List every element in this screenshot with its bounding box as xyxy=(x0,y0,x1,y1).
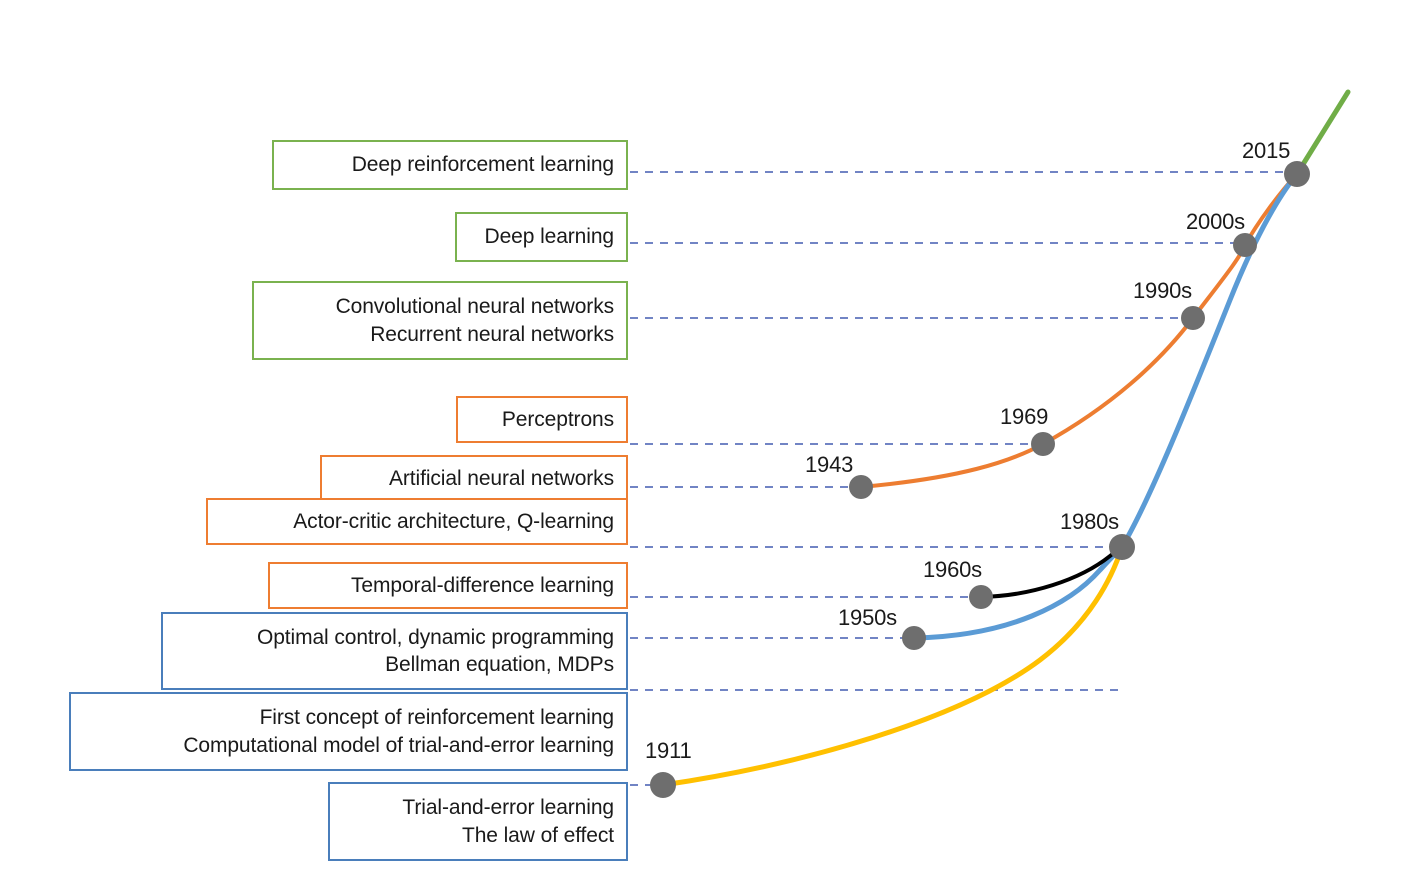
label-box-optimal-control-bellman[interactable]: Optimal control, dynamic programmingBell… xyxy=(161,612,628,690)
milestone-1943[interactable] xyxy=(849,475,873,499)
label-box-line: Convolutional neural networks xyxy=(336,293,614,320)
label-box-actor-critic-q-learning[interactable]: Actor-critic architecture, Q-learning xyxy=(206,498,628,545)
label-box-convolutional-recurrent-neural-networks[interactable]: Convolutional neural networksRecurrent n… xyxy=(252,281,628,360)
label-box-trial-and-error-law-of-effect[interactable]: Trial-and-error learningThe law of effec… xyxy=(328,782,628,861)
milestone-1990s[interactable] xyxy=(1181,306,1205,330)
milestone-1911[interactable] xyxy=(650,772,676,798)
milestone-1950s[interactable] xyxy=(902,626,926,650)
milestone-1969[interactable] xyxy=(1031,432,1055,456)
label-box-line: Deep learning xyxy=(485,223,614,250)
milestone-1960s[interactable] xyxy=(969,585,993,609)
label-box-deep-reinforcement-learning[interactable]: Deep reinforcement learning xyxy=(272,140,628,190)
milestone-1980s[interactable] xyxy=(1109,534,1135,560)
label-box-line: The law of effect xyxy=(462,822,614,849)
year-1990s: 1990s xyxy=(1133,278,1192,304)
year-2015: 2015 xyxy=(1242,138,1290,164)
label-box-line: Bellman equation, MDPs xyxy=(385,651,614,678)
timeline-diagram: Deep reinforcement learningDeep learning… xyxy=(0,0,1414,894)
label-box-perceptrons[interactable]: Perceptrons xyxy=(456,396,628,443)
curve-trial-and-error xyxy=(663,547,1122,785)
year-2000s: 2000s xyxy=(1186,209,1245,235)
label-box-line: Computational model of trial-and-error l… xyxy=(183,732,614,759)
label-box-line: Optimal control, dynamic programming xyxy=(257,624,614,651)
year-1960s: 1960s xyxy=(923,557,982,583)
milestone-2000s[interactable] xyxy=(1233,233,1257,257)
label-box-line: Perceptrons xyxy=(502,406,614,433)
label-box-line: Artificial neural networks xyxy=(389,465,614,492)
year-1943: 1943 xyxy=(805,452,853,478)
label-box-line: Deep reinforcement learning xyxy=(352,151,614,178)
label-box-line: Recurrent neural networks xyxy=(370,321,614,348)
label-box-line: First concept of reinforcement learning xyxy=(260,704,614,731)
label-box-line: Actor-critic architecture, Q-learning xyxy=(293,508,614,535)
label-box-first-concept-of-rl[interactable]: First concept of reinforcement learningC… xyxy=(69,692,628,771)
year-1950s: 1950s xyxy=(838,605,897,631)
year-1969: 1969 xyxy=(1000,404,1048,430)
label-box-temporal-difference-learning[interactable]: Temporal-difference learning xyxy=(268,562,628,609)
milestone-2015[interactable] xyxy=(1284,161,1310,187)
curve-deep-future xyxy=(1297,92,1348,174)
label-box-line: Temporal-difference learning xyxy=(351,572,614,599)
label-box-deep-learning[interactable]: Deep learning xyxy=(455,212,628,262)
label-box-artificial-neural-networks[interactable]: Artificial neural networks xyxy=(320,455,628,502)
year-1911: 1911 xyxy=(645,738,692,764)
year-1980s: 1980s xyxy=(1060,509,1119,535)
label-box-line: Trial-and-error learning xyxy=(402,794,614,821)
